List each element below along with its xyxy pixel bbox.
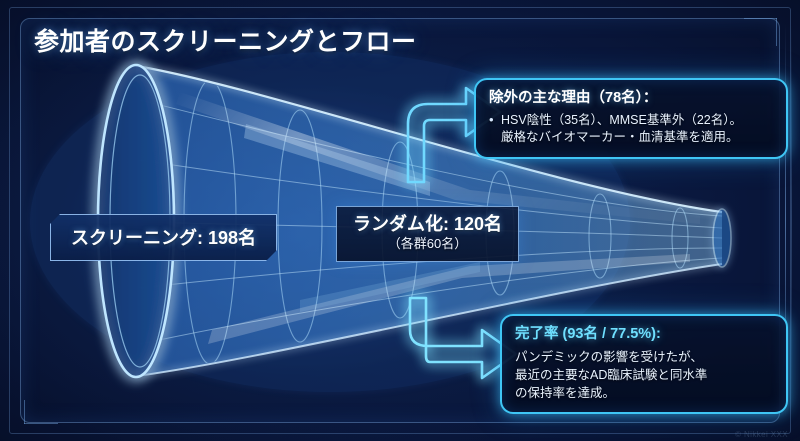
callout-completion-line-3: の保持率を達成。 [515,384,773,402]
callout-completion-line-1: パンデミックの影響を受けたが、 [515,348,773,366]
callout-completion-line-2: 最近の主要なAD臨床試験と同水準 [515,366,773,384]
watermark: © Nikkei XXX [735,430,788,439]
callout-exclusions: 除外の主な理由（78名）： HSV陰性（35名）、MMSE基準外（22名）。 厳… [474,78,788,159]
stage-label-screening: スクリーニング: 198名 [50,214,277,261]
callout-exclusions-list: HSV陰性（35名）、MMSE基準外（22名）。 厳格なバイオマーカー・血清基準… [489,112,773,148]
stage-label-randomized-sub: （各群60名） [353,235,502,253]
list-item: HSV陰性（35名）、MMSE基準外（22名）。 [489,112,773,130]
callout-completion-body: パンデミックの影響を受けたが、 最近の主要なAD臨床試験と同水準 の保持率を達成… [515,348,773,403]
slide-canvas: 参加者のスクリーニングとフロー スクリーニング: 198名 ランダム化: 120… [0,0,800,441]
callout-completion-heading: 完了率 (93名 / 77.5%): [515,325,773,345]
stage-label-randomized: ランダム化: 120名 （各群60名） [336,206,519,262]
page-title: 参加者のスクリーニングとフロー [34,22,417,58]
callout-exclusions-heading: 除外の主な理由（78名）： [489,89,773,109]
list-item: 厳格なバイオマーカー・血清基準を適用。 [489,129,773,147]
callout-completion: 完了率 (93名 / 77.5%): パンデミックの影響を受けたが、 最近の主要… [500,314,788,414]
funnel-outlet [713,209,731,267]
stage-label-randomized-main: ランダム化: 120名 [353,214,502,235]
